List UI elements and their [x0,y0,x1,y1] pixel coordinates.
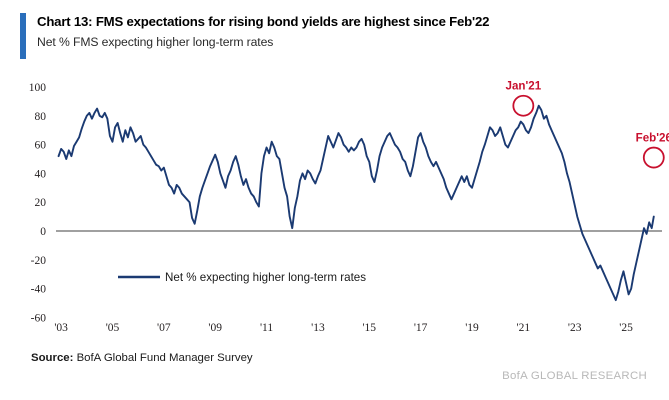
x-axis-tick-label: '09 [208,322,222,334]
chart-legend: Net % expecting higher long-term rates [118,271,366,284]
x-axis-tick-label: '03 [54,322,68,334]
x-axis: '03'05'07'09'11'13'15'17'19'21'23'25 [54,322,633,334]
y-axis-tick-label: -40 [31,284,47,296]
x-axis-tick-label: '07 [157,322,171,334]
line-chart-svg: 100806040200-20-40-60 '03'05'07'09'11'13… [0,0,669,400]
annotation-label-1: Feb'26 [636,132,669,145]
chart-container: Chart 13: FMS expectations for rising bo… [0,0,669,400]
source-note: Source: BofA Global Fund Manager Survey [31,352,253,364]
x-axis-tick-label: '23 [568,322,582,334]
x-axis-tick-label: '13 [311,322,325,334]
source-label: Source: [31,352,73,364]
y-axis: 100806040200-20-40-60 [29,82,47,324]
y-axis-tick-label: 20 [35,197,47,209]
y-axis-tick-label: 60 [35,140,47,152]
x-axis-tick-label: '11 [260,322,273,334]
y-axis-tick-label: 0 [40,226,46,238]
y-axis-tick-label: 40 [35,168,47,180]
y-axis-tick-label: -20 [31,255,47,267]
x-axis-tick-label: '25 [619,322,633,334]
x-axis-tick-label: '19 [465,322,479,334]
annotation-marker-1 [644,148,664,168]
x-axis-tick-label: '15 [362,322,376,334]
legend-label-0: Net % expecting higher long-term rates [165,271,366,284]
x-axis-tick-label: '21 [517,322,531,334]
watermark: BofA GLOBAL RESEARCH [502,370,647,382]
annotation-marker-0 [513,96,533,116]
source-text: BofA Global Fund Manager Survey [73,352,252,364]
plot-area: 100806040200-20-40-60 '03'05'07'09'11'13… [0,0,669,400]
y-axis-tick-label: 100 [29,82,47,94]
annotations: Jan'21Feb'26 [506,80,669,168]
annotation-label-0: Jan'21 [506,80,542,93]
y-axis-tick-label: 80 [35,111,47,123]
x-axis-tick-label: '05 [106,322,120,334]
y-axis-tick-label: -60 [31,312,47,324]
x-axis-tick-label: '17 [414,322,428,334]
